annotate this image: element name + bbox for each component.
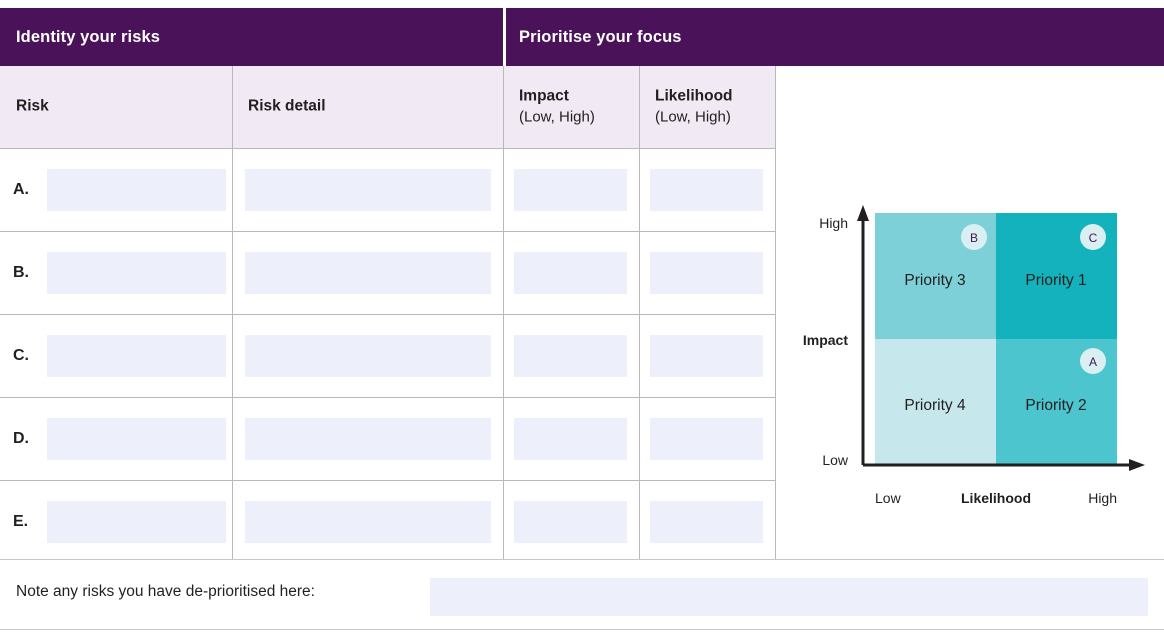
y-axis-tick-low: Low xyxy=(822,452,849,468)
table-row: A. xyxy=(0,149,775,231)
impact-input[interactable] xyxy=(514,335,627,377)
table-row: B. xyxy=(0,232,775,314)
priority-matrix-chart: Priority 3 Priority 1 Priority 4 Priorit… xyxy=(775,66,1164,559)
likelihood-input[interactable] xyxy=(650,501,763,543)
note-input[interactable] xyxy=(430,578,1148,616)
marker-a: A xyxy=(1080,348,1106,374)
impact-input[interactable] xyxy=(514,418,627,460)
y-axis-title: Impact xyxy=(803,332,848,348)
header-band-divider xyxy=(503,8,506,66)
x-axis-tick-high: High xyxy=(1088,490,1117,506)
section-title-prioritise: Prioritise your focus xyxy=(519,8,682,66)
x-axis-title: Likelihood xyxy=(961,490,1031,506)
row-letter: B. xyxy=(13,264,29,282)
column-header-risk-detail: Risk detail xyxy=(232,66,503,148)
risk-input[interactable] xyxy=(47,335,226,377)
column-header-risk: Risk xyxy=(0,66,232,148)
column-header-likelihood-label: Likelihood xyxy=(655,86,767,107)
note-bottom-rule xyxy=(0,629,1164,630)
likelihood-input[interactable] xyxy=(650,335,763,377)
risk-detail-input[interactable] xyxy=(245,501,491,543)
likelihood-input[interactable] xyxy=(650,418,763,460)
column-header-likelihood: Likelihood (Low, High) xyxy=(639,66,775,148)
marker-badge-label: C xyxy=(1089,231,1098,245)
risk-detail-input[interactable] xyxy=(245,252,491,294)
marker-badge-label: A xyxy=(1089,355,1097,369)
table-row: E. xyxy=(0,481,775,563)
row-letter: C. xyxy=(13,347,29,365)
risk-prioritisation-worksheet: Identity your risks Prioritise your focu… xyxy=(0,0,1164,637)
likelihood-input[interactable] xyxy=(650,252,763,294)
quadrant-label-priority-2: Priority 2 xyxy=(1025,397,1086,414)
risk-detail-input[interactable] xyxy=(245,335,491,377)
risk-input[interactable] xyxy=(47,169,226,211)
likelihood-input[interactable] xyxy=(650,169,763,211)
column-header-risk-detail-label: Risk detail xyxy=(248,97,495,118)
quadrant-label-priority-4: Priority 4 xyxy=(904,397,966,414)
impact-input[interactable] xyxy=(514,501,627,543)
risk-input[interactable] xyxy=(47,252,226,294)
row-letter: E. xyxy=(13,513,28,531)
risk-detail-input[interactable] xyxy=(245,169,491,211)
column-header-impact-sub: (Low, High) xyxy=(519,107,631,127)
column-header-impact-label: Impact xyxy=(519,86,631,107)
marker-c: C xyxy=(1080,224,1106,250)
risk-input[interactable] xyxy=(47,418,226,460)
section-title-identify: Identity your risks xyxy=(16,8,160,66)
risk-input[interactable] xyxy=(47,501,226,543)
x-axis-tick-low: Low xyxy=(875,490,902,506)
impact-input[interactable] xyxy=(514,169,627,211)
quadrant-label-priority-1: Priority 1 xyxy=(1025,272,1086,289)
quadrant-label-priority-3: Priority 3 xyxy=(904,272,965,289)
risk-detail-input[interactable] xyxy=(245,418,491,460)
marker-badge-label: B xyxy=(970,231,978,245)
note-label: Note any risks you have de-prioritised h… xyxy=(16,583,315,601)
table-row: C. xyxy=(0,315,775,397)
impact-input[interactable] xyxy=(514,252,627,294)
column-header-risk-label: Risk xyxy=(16,97,224,118)
column-header-impact: Impact (Low, High) xyxy=(503,66,639,148)
y-axis-tick-high: High xyxy=(819,215,848,231)
note-top-rule xyxy=(0,559,1164,560)
column-header-likelihood-sub: (Low, High) xyxy=(655,107,767,127)
marker-b: B xyxy=(961,224,987,250)
row-letter: A. xyxy=(13,181,29,199)
row-letter: D. xyxy=(13,430,29,448)
table-row: D. xyxy=(0,398,775,480)
